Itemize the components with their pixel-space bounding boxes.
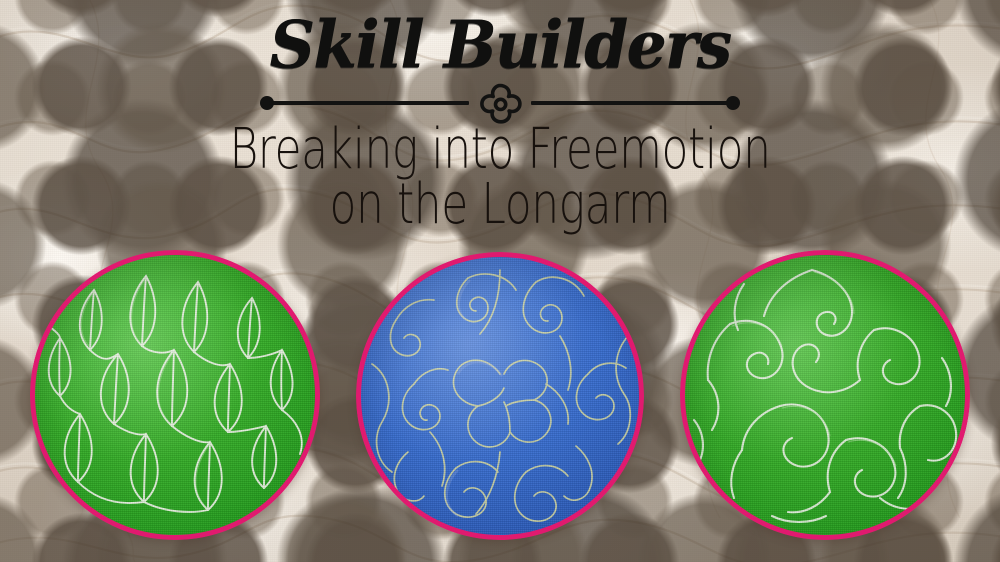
page-title: Skill Builders — [0, 0, 1000, 78]
sample-border-ring-left — [30, 250, 320, 540]
divider-ornament — [260, 90, 740, 116]
divider-dot-right — [726, 96, 740, 110]
divider-bar-right — [531, 101, 731, 105]
skill-builders-banner: Skill Builders Breaking into Freemotion … — [0, 0, 1000, 562]
page-subtitle: Breaking into Freemotion on the Longarm — [60, 122, 940, 232]
sample-border-ring-right — [680, 250, 970, 540]
sample-border-ring-center — [356, 252, 644, 540]
divider-bar-left — [269, 101, 469, 105]
green-leaf-quilted-sample[interactable] — [30, 250, 320, 540]
subtitle-line-2: on the Longarm — [60, 177, 940, 232]
banner-header: Skill Builders Breaking into Freemotion … — [0, 0, 1000, 220]
green-swirl-quilted-sample[interactable] — [680, 250, 970, 540]
subtitle-line-1: Breaking into Freemotion — [60, 122, 940, 177]
blue-feather-quilted-sample[interactable] — [356, 252, 644, 540]
